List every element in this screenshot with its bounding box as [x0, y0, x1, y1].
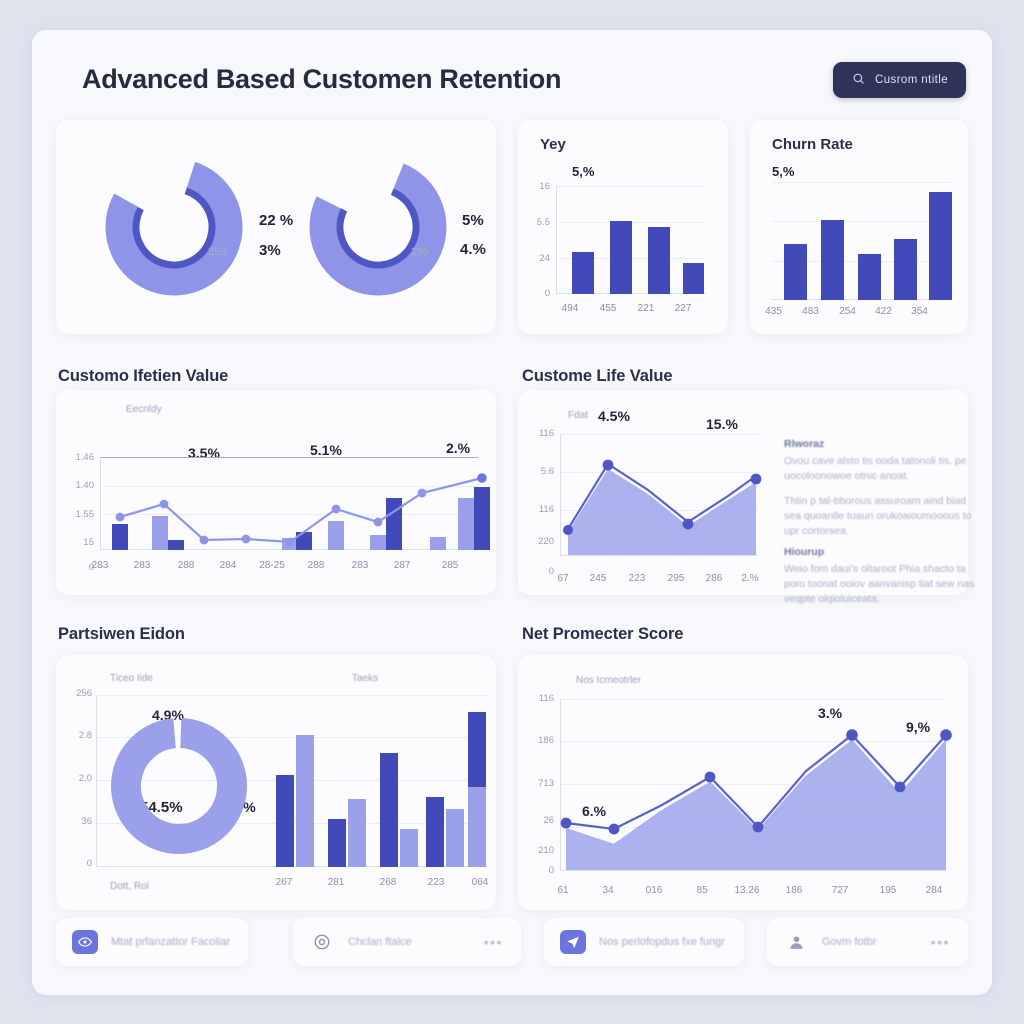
clv-xtick: 288 [296, 560, 336, 571]
partsiwen-bars-legend: Taeks [352, 673, 378, 684]
bar[interactable] [328, 819, 346, 867]
clv-area-xtick: 286 [696, 573, 732, 584]
nps-ytick: 210 [520, 845, 554, 856]
bar[interactable] [400, 829, 418, 867]
nps-ytick: 0 [524, 865, 554, 876]
custom-title-button-label: Cusrom ntitle [875, 74, 948, 86]
clv-area-xtick: 295 [658, 573, 694, 584]
partsiwen-ytick: 36 [60, 816, 92, 827]
partsiwen-xtick: 223 [416, 877, 456, 888]
bar[interactable] [348, 799, 366, 867]
bar[interactable] [929, 192, 952, 300]
nps-ytick: 713 [524, 778, 554, 789]
nps-ytick: 116 [524, 693, 554, 704]
bar[interactable] [380, 753, 398, 867]
yey-xtick: 221 [628, 303, 664, 314]
nps-legend: Nos Icmeotrler [576, 675, 641, 686]
clv-left-section-title: Customo Ifetien Value [58, 367, 228, 386]
clv-ytick: 1.55 [62, 509, 94, 520]
chip-mat-prfanzattor[interactable]: Mtat prfanzattor Facoliar [56, 918, 248, 966]
nps-xtick: 186 [776, 885, 812, 896]
gauge-right-value: 5% [462, 212, 484, 229]
yey-ytick: 24 [526, 253, 550, 264]
clv-xtick: 288 [166, 560, 206, 571]
donut-legend-bottom: Dott, Rol [110, 881, 149, 892]
eye-badge-icon [72, 930, 98, 954]
send-badge-icon [560, 930, 586, 954]
person-icon [783, 930, 809, 954]
chip-menu-button[interactable]: ••• [931, 934, 950, 950]
chip-label: Govm fotbr [822, 936, 876, 948]
chip-chclan-ftalce[interactable]: Chclan ftalce ••• [293, 918, 521, 966]
bar[interactable] [468, 712, 486, 787]
churn-xtick: 483 [793, 306, 828, 317]
net-promoter-score-card: Nos Icmeotrler 6.% 3.% 9,% 1 [518, 655, 968, 910]
chip-label: Nos perlofopdus fxe fungr [599, 936, 725, 948]
target-circle-icon [309, 930, 335, 954]
clv-area-ytick: 116 [524, 428, 554, 439]
search-badge-icon [851, 71, 866, 89]
clv-area-xtick: 245 [580, 573, 616, 584]
gauge-right[interactable] [308, 157, 448, 297]
bar[interactable] [821, 220, 844, 300]
partsiwen-eidon-section-title: Partsiwen Eidon [58, 625, 185, 644]
clv-area-ytick: 220 [520, 536, 554, 547]
donut-legend-top: Ticeo Iide [110, 673, 153, 684]
partsiwen-plot [96, 695, 486, 867]
clv-line-series [100, 457, 478, 550]
churn-rate-card-title: Churn Rate [772, 136, 853, 153]
bar[interactable] [572, 252, 594, 294]
retention-gauges-card: 22 % 253 3% 5% 295 4.% [56, 120, 496, 334]
nps-xtick: 195 [870, 885, 906, 896]
info-body-3: Weio fom daui's oltaroot Phia shacto ta … [784, 562, 982, 607]
bar[interactable] [648, 227, 670, 294]
clv-xtick: 285 [430, 560, 470, 571]
gauge-right-subvalue: 4.% [460, 241, 486, 258]
clv-area-annotation: 4.5% [598, 408, 630, 424]
nps-xtick: 85 [684, 885, 720, 896]
churn-rate-card: Churn Rate 5,% 435 483 254 422 354 [750, 120, 968, 334]
clv-right-section-title: Custome Life Value [522, 367, 672, 386]
nps-xtick: 727 [822, 885, 858, 896]
chip-menu-button[interactable]: ••• [484, 934, 503, 950]
customer-lifetime-value-card: Eecnldy 3.5% 5.1% 2.% [56, 390, 496, 595]
partsiwen-xtick: 064 [460, 877, 500, 888]
info-heading-1: Rlworaz [784, 438, 824, 450]
clv-xtick: 283 [80, 560, 120, 571]
bar[interactable] [784, 244, 807, 300]
info-body-1: Ovou cave alsto tis ooda tatonoli tis, p… [784, 454, 982, 484]
bar[interactable] [610, 221, 632, 294]
page-title: Advanced Based Customen Retention [82, 64, 561, 95]
yey-card-title: Yey [540, 136, 566, 153]
clv-xtick: 284 [208, 560, 248, 571]
churn-xtick: 254 [830, 306, 865, 317]
bar[interactable] [446, 809, 464, 867]
gauge-left-count: 253 [208, 246, 226, 258]
partsiwen-ytick: 2.0 [60, 773, 92, 784]
clv-area-ytick: 116 [524, 504, 554, 515]
clv-xtick: 283 [122, 560, 162, 571]
partsiwen-ytick: 256 [60, 688, 92, 699]
churn-rate-plot [772, 182, 950, 300]
clv-plot [100, 460, 478, 550]
nps-plot [560, 699, 946, 871]
partsiwen-xtick: 267 [264, 877, 304, 888]
yey-annotation: 5,% [572, 164, 594, 179]
yey-xtick: 494 [552, 303, 588, 314]
partsiwen-xtick: 268 [368, 877, 408, 888]
gauge-left[interactable] [104, 157, 244, 297]
clv-area-ytick: 5.6 [524, 466, 554, 477]
donut-chart[interactable] [104, 711, 254, 861]
clv-xtick: 28-25 [250, 560, 294, 571]
bar[interactable] [296, 735, 314, 867]
gauge-left-subvalue: 3% [259, 242, 281, 259]
clv-area-series [560, 434, 758, 556]
partsiwen-xtick: 281 [316, 877, 356, 888]
bar[interactable] [276, 775, 294, 867]
bar[interactable] [858, 254, 881, 300]
churn-xtick: 354 [902, 306, 937, 317]
clv-annotation: 2.% [446, 440, 470, 456]
clv-area-xtick: 67 [548, 573, 578, 584]
nps-ytick: 186 [524, 735, 554, 746]
bar[interactable] [468, 775, 486, 867]
dashboard-header: Advanced Based Customen Retention Cusrom… [56, 58, 968, 114]
churn-rate-annotation: 5,% [772, 164, 794, 179]
churn-xtick: 422 [866, 306, 901, 317]
gauge-left-value: 22 % [259, 212, 293, 229]
nps-section-title: Net Promecter Score [522, 625, 683, 644]
gauge-right-count: 295 [411, 246, 429, 258]
bar[interactable] [894, 239, 917, 300]
yey-xtick: 227 [665, 303, 701, 314]
nps-xtick: 61 [548, 885, 578, 896]
clv-area-xtick: 2.% [732, 573, 768, 584]
info-heading-2: Hiourup [784, 546, 824, 558]
nps-xtick: 13.26 [726, 885, 768, 896]
nps-xtick: 016 [636, 885, 672, 896]
nps-xtick: 284 [916, 885, 952, 896]
clv-area-plot [560, 434, 758, 556]
yey-ytick: 0 [526, 288, 550, 299]
clv-annotation: 5.1% [310, 442, 342, 458]
nps-ytick: 26 [524, 815, 554, 826]
nps-xtick: 34 [590, 885, 626, 896]
clv-area-legend: Fdat [568, 410, 588, 421]
chip-nos-perlofopdus[interactable]: Nos perlofopdus fxe fungr [544, 918, 744, 966]
churn-xtick: 435 [756, 306, 791, 317]
info-body-2: Thtin p tal-bborous assuroam aind biad s… [784, 494, 982, 539]
partsiwen-eidon-card: Ticeo Iide Dott, Rol 4.9% 15.0% 54.5% [56, 655, 496, 910]
clv-ytick: 1.46 [62, 452, 94, 463]
customer-life-value-card: Fdat 4.5% 15.% 116 5.6 116 220 0 67 [518, 390, 968, 595]
clv-xtick: 283 [340, 560, 380, 571]
partsiwen-ytick: 2.8 [60, 730, 92, 741]
nps-area-series [560, 699, 946, 871]
partsiwen-ytick: 0 [60, 858, 92, 869]
clv-ytick: 15 [62, 537, 94, 548]
yey-ytick: 5.5 [526, 217, 550, 228]
bar[interactable] [683, 263, 704, 294]
yey-card: Yey 5,% 16 5.5 24 0 494 455 221 227 [518, 120, 728, 334]
dashboard-panel: Advanced Based Customen Retention Cusrom… [32, 30, 992, 995]
chip-govm-fotbr[interactable]: Govm fotbr ••• [767, 918, 968, 966]
custom-title-button[interactable]: Cusrom ntitle [833, 62, 966, 98]
clv-area-xtick: 223 [619, 573, 655, 584]
chip-label: Chclan ftalce [348, 936, 412, 948]
yey-xtick: 455 [590, 303, 626, 314]
bar[interactable] [426, 797, 444, 867]
clv-ytick: 1.40 [62, 480, 94, 491]
clv-area-annotation: 15.% [706, 416, 738, 432]
clv-xtick: 287 [382, 560, 422, 571]
clv-legend: Eecnldy [126, 404, 162, 415]
chip-label: Mtat prfanzattor Facoliar [111, 936, 230, 948]
yey-plot [556, 186, 706, 294]
yey-ytick: 16 [526, 181, 550, 192]
